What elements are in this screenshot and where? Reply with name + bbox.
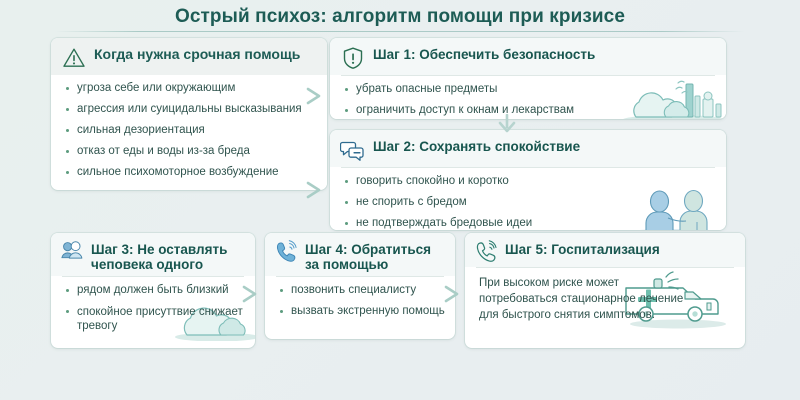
page-title-bar: Острый психоз: алгоритм помощи при кризи… xyxy=(0,0,800,34)
card-step-1-header: Шаг 1: Обеспечить безопасность xyxy=(330,38,726,75)
page-title: Острый психоз: алгоритм помощи при кризи… xyxy=(175,6,625,28)
phone-signal-icon xyxy=(275,240,298,263)
list-item: вызвать экстренную помощь xyxy=(279,305,445,318)
step-4-list: позвонить специалисту вызвать экстренную… xyxy=(279,284,445,318)
warning-triangle-icon xyxy=(61,45,87,71)
card-step-5-title: Шаг 5: Госпитализация xyxy=(505,240,660,257)
step-3-list: рядом должен быть близкий спокойное прис… xyxy=(65,284,245,333)
shield-exclamation-icon xyxy=(340,45,366,71)
card-step-1-title: Шаг 1: Обеспечить безопасность xyxy=(373,45,595,62)
card-step-3[interactable]: Шаг 3: Не оставлять чеповека одного рядо… xyxy=(51,233,255,348)
list-item: угроза себе или окружающим xyxy=(65,82,317,95)
speech-bubbles-icon xyxy=(340,137,366,163)
step-1-list: убрать опасные предметы ограничить досту… xyxy=(344,83,716,117)
card-urgent-help-header: Когда нужна срочная помощь xyxy=(51,38,327,75)
list-item: говорить спокойно и коротко xyxy=(344,175,716,188)
list-item: позвонить специалисту xyxy=(279,284,445,297)
card-step-1[interactable]: Шаг 1: Обеспечить безопасность убрать оп… xyxy=(330,38,726,119)
card-step-5-body: При высоком риске может потребоваться ст… xyxy=(465,268,745,331)
card-urgent-help[interactable]: Когда нужна срочная помощь угроза себе и… xyxy=(51,38,327,190)
phone-signal-icon xyxy=(475,240,498,263)
list-item: не спорить с бредом xyxy=(344,196,716,209)
list-item: сильное психомоторное возбуждение xyxy=(65,166,317,179)
list-item: спокойное присуттвие снижает тревогу xyxy=(65,305,245,333)
card-step-2-body: говорить спокойно и коротко не спорить с… xyxy=(330,168,726,230)
card-step-2-header: Шаг 2: Сохранять спокойствие xyxy=(330,130,726,167)
step-2-list: говорить спокойно и коротко не спорить с… xyxy=(344,175,716,230)
card-step-5[interactable]: Шаг 5: Госпитализация При высоком риске … xyxy=(465,233,745,348)
card-step-2-title: Шаг 2: Сохранять спокойствие xyxy=(373,137,580,154)
list-item: агрессия или суицидальны высказывания xyxy=(65,103,317,116)
urgent-help-list: угроза себе или окружающим агрессия или … xyxy=(65,82,317,179)
card-step-3-header: Шаг 3: Не оставлять чеповека одного xyxy=(51,233,255,276)
card-step-3-title: Шаг 3: Не оставлять чеповека одного xyxy=(91,240,245,272)
list-item: сильная дезориентация xyxy=(65,124,317,137)
card-step-4[interactable]: Шаг 4: Обратиться за помощью позвонить с… xyxy=(265,233,455,339)
list-item: отказ от еды и воды из-за бреда xyxy=(65,145,317,158)
title-divider xyxy=(55,31,745,32)
card-step-1-body: убрать опасные предметы ограничить досту… xyxy=(330,76,726,119)
list-item: убрать опасные предметы xyxy=(344,83,716,96)
card-urgent-help-title: Когда нужна срочная помощь xyxy=(94,45,300,62)
card-step-3-body: рядом должен быть близкий спокойное прис… xyxy=(51,277,255,341)
card-step-2[interactable]: Шаг 2: Сохранять спокойствие говорить сп… xyxy=(330,130,726,230)
list-item: ограничить доступ к окнам и лекарствам xyxy=(344,104,716,117)
card-urgent-help-body: угроза себе или окружающим агрессия или … xyxy=(51,75,327,187)
card-step-4-title: Шаг 4: Обратиться за помощью xyxy=(305,240,445,272)
list-item: не подтверждать бредовые идеи xyxy=(344,217,716,230)
card-step-4-body: позвонить специалисту вызвать экстренную… xyxy=(265,277,455,326)
step-5-paragraph: При высоком риске может потребоваться ст… xyxy=(479,275,694,323)
card-step-4-header: Шаг 4: Обратиться за помощью xyxy=(265,233,455,276)
card-step-5-header: Шаг 5: Госпитализация xyxy=(465,233,745,267)
list-item: рядом должен быть близкий xyxy=(65,284,245,297)
two-persons-icon xyxy=(61,240,84,263)
